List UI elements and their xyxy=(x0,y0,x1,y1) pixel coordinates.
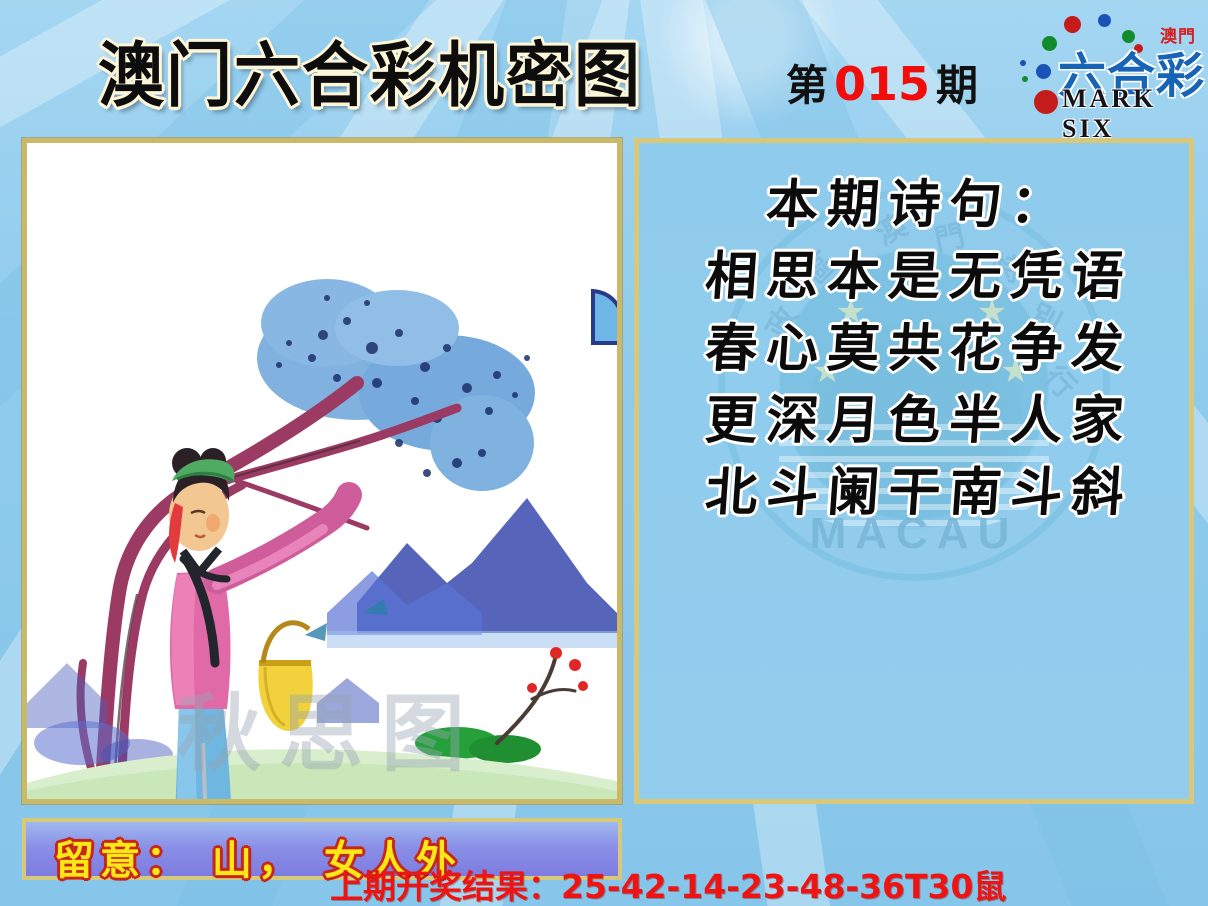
logo-ball-green-2 xyxy=(1042,36,1057,51)
logo-english-name: MARK SIX xyxy=(1062,84,1200,144)
page-title: 澳门六合彩机密图 xyxy=(98,19,642,121)
illustration: 秋思图 xyxy=(27,143,617,799)
issue-indicator: 第015期 xyxy=(786,52,978,113)
poster-header: 澳门六合彩机密图 第015期 六合彩 MARK SIX 澳門 xyxy=(0,0,1208,128)
logo-region-label: 澳門 xyxy=(1160,22,1196,47)
illustration-watermark: 秋思图 xyxy=(177,667,617,777)
poem-heading: 本期诗句： xyxy=(636,169,1194,241)
previous-result-text: 上期开奖结果：25-42-14-23-48-36T30鼠 xyxy=(330,860,1006,906)
logo-ball-red-3 xyxy=(1034,90,1058,114)
issue-prefix-label: 第 xyxy=(786,61,828,110)
poem-panel: ★ ★ ★ ★ ★ 澳 門 特 別 行 區 政 MACAU 本期诗句： 相思本是… xyxy=(634,138,1194,804)
logo-ball-small-1 xyxy=(1020,60,1026,66)
issue-number: 015 xyxy=(828,57,936,111)
poem-line-1: 相思本是无凭语 xyxy=(636,241,1194,313)
poem-line-3: 更深月色半人家 xyxy=(636,385,1194,457)
poem-line-4: 北斗阑干南斗斜 xyxy=(636,457,1194,529)
issue-suffix-label: 期 xyxy=(936,61,978,110)
illustration-frame: 秋思图 xyxy=(22,138,622,804)
poster-root: 澳门六合彩机密图 第015期 六合彩 MARK SIX 澳門 xyxy=(0,0,1208,906)
logo-ball-small-2 xyxy=(1022,76,1028,82)
logo-ball-blue-2 xyxy=(1036,64,1051,79)
poem-text-block: 本期诗句： 相思本是无凭语 春心莫共花争发 更深月色半人家 北斗阑干南斗斜 xyxy=(639,169,1194,529)
poem-line-2: 春心莫共花争发 xyxy=(636,313,1194,385)
mark-six-logo: 六合彩 MARK SIX 澳門 xyxy=(1012,6,1200,122)
logo-ball-red-1 xyxy=(1064,16,1081,33)
logo-ball-blue-1 xyxy=(1098,14,1111,27)
